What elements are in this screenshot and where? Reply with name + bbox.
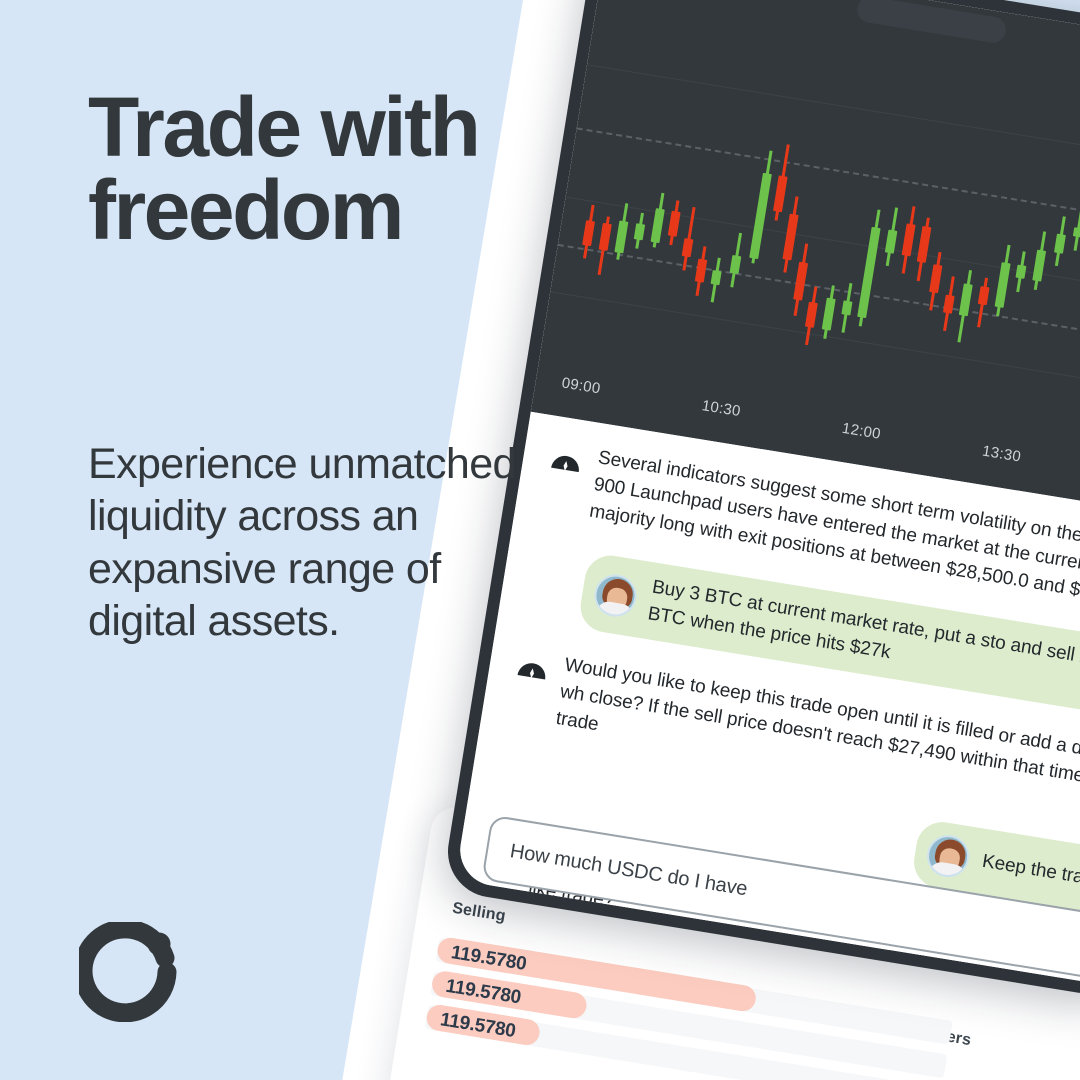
candle [718, 345, 727, 346]
candle-body [978, 286, 990, 305]
candle-body [711, 270, 722, 285]
candle-body [634, 223, 645, 240]
candle-body [694, 259, 707, 283]
ai-assistant-icon [514, 647, 553, 686]
candle-body [943, 294, 955, 313]
candle [685, 339, 694, 340]
user-avatar [924, 832, 972, 880]
candle-body [1032, 249, 1046, 282]
candle-body [668, 211, 681, 237]
candle [1014, 393, 1023, 394]
candle [866, 369, 875, 370]
candle-body [929, 265, 942, 293]
candle-body [730, 255, 742, 274]
candle [1063, 401, 1072, 402]
candle-body [805, 302, 818, 328]
candle [701, 342, 710, 343]
ad-creative-canvas: Trade with freedom Experience unmatched … [0, 0, 1080, 1080]
candle-body [682, 238, 694, 257]
candle [915, 377, 924, 378]
candle-body [783, 214, 799, 260]
brand-ring-logo-icon [79, 922, 179, 1022]
candle-body [749, 172, 772, 259]
candle-body [773, 175, 788, 212]
candle [1030, 395, 1039, 396]
candle [932, 379, 941, 380]
time-tick-label: 13:30 [981, 443, 1022, 466]
candle-body [1054, 234, 1066, 253]
candle [899, 374, 908, 375]
headline-block: Trade with freedom [88, 86, 608, 252]
candle [965, 385, 974, 386]
candle-body [917, 226, 932, 263]
candle-body [901, 223, 915, 256]
candle [948, 382, 957, 383]
candle-body [650, 208, 664, 243]
candle-body [822, 298, 836, 331]
phone-notch [855, 0, 1007, 45]
candle [636, 331, 645, 332]
time-tick-label: 10:30 [701, 397, 742, 420]
candle-body [1073, 228, 1080, 238]
candle [850, 366, 859, 367]
candle-body [858, 227, 881, 318]
candle-body [959, 283, 973, 316]
candle [998, 390, 1007, 391]
candle [800, 358, 809, 359]
candle-body [994, 262, 1010, 308]
candle [1047, 398, 1056, 399]
candle [882, 371, 891, 372]
candle [669, 337, 678, 338]
candle [751, 350, 760, 351]
candle [652, 334, 661, 335]
candle-body [793, 261, 808, 301]
headline-line-1: Trade with [88, 86, 608, 169]
candle [833, 363, 842, 364]
candle [603, 326, 612, 327]
candle [784, 355, 793, 356]
user-avatar [591, 571, 639, 619]
candle-body [841, 301, 852, 316]
candle-body [885, 230, 898, 254]
candle-series [570, 5, 1080, 417]
candle-body [1016, 264, 1027, 279]
headline-line-2: freedom [88, 169, 608, 252]
candle [586, 323, 595, 324]
ai-assistant-avatar [514, 647, 553, 686]
candle [981, 387, 990, 388]
chat-bubble-text: Keep the tra [980, 849, 1080, 892]
time-tick-label: 12:00 [841, 420, 882, 443]
candle [817, 361, 826, 362]
body-copy: Experience unmatched liquidity across an… [88, 438, 558, 648]
candle [767, 353, 776, 354]
candle-body [615, 221, 629, 254]
column-header-selling: Selling [451, 900, 507, 926]
time-tick-label: 09:00 [560, 374, 601, 397]
candle [619, 329, 628, 330]
candle [734, 347, 743, 348]
candle [570, 321, 579, 322]
